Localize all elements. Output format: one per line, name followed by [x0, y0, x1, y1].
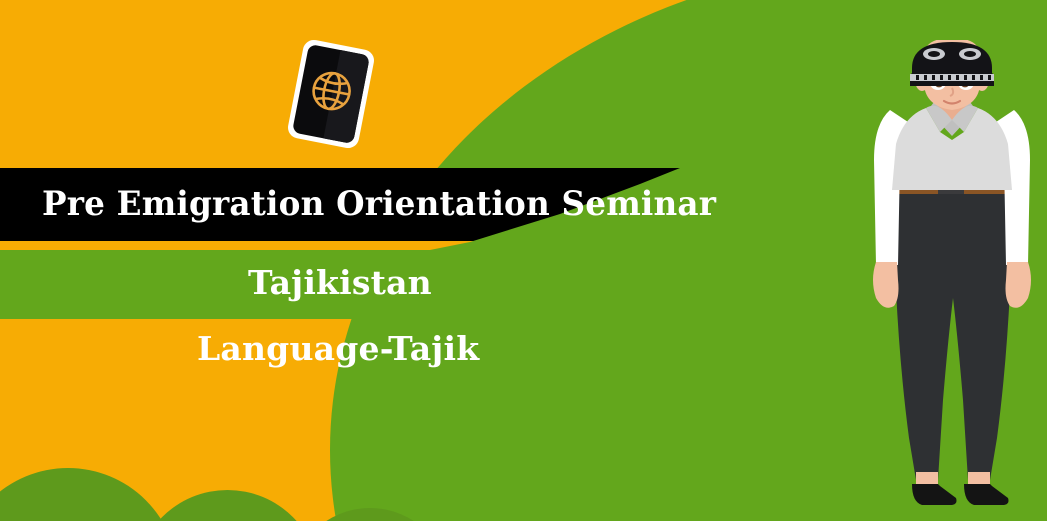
page-title: Pre Emigration Orientation Seminar: [42, 182, 716, 226]
poster-canvas: Pre Emigration Orientation Seminar Tajik…: [0, 0, 1047, 521]
character-trousers: [892, 190, 1012, 480]
character-shoes: [912, 484, 1009, 505]
country-label: Tajikistan: [248, 261, 432, 305]
tubeteika-cap-icon: [910, 42, 994, 86]
language-label: Language-Tajik: [197, 327, 479, 371]
tajik-man-illustration: [860, 40, 1045, 521]
cap-band-trim: [910, 74, 994, 81]
passport-icon: [281, 35, 381, 153]
